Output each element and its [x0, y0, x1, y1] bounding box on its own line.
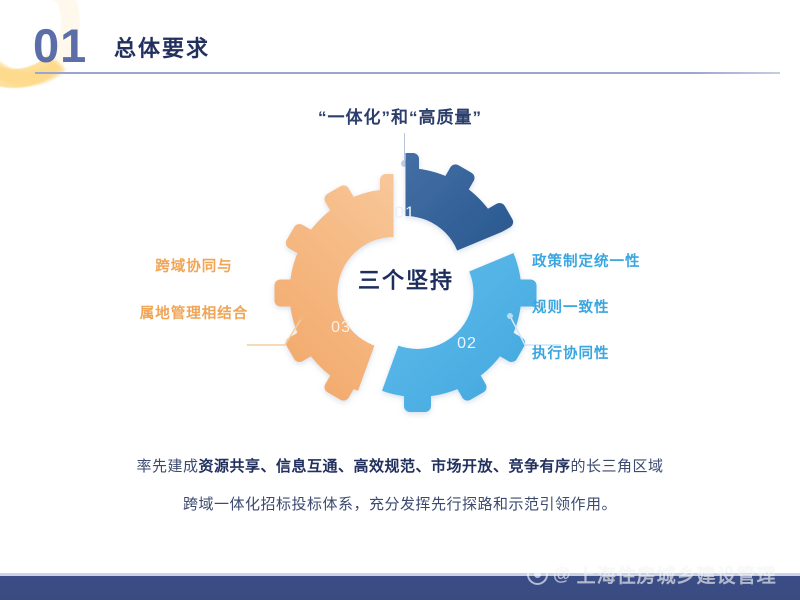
section-number: 01: [33, 22, 87, 69]
page-title: 总体要求: [114, 38, 210, 60]
slide-header: 01 总体要求: [0, 0, 800, 92]
bottom-line1-emphasis: 资源共享、信息互通、高效规范、市场开放、竞争有序: [198, 458, 570, 475]
left-label-2: 属地管理相结合: [104, 302, 284, 323]
top-caption: “一体化”和“高质量”: [0, 103, 800, 128]
gear-segment-01-number: 01: [395, 203, 416, 222]
right-label-1: 政策制定统一性: [532, 250, 712, 271]
left-label-group: 跨域协同与 属地管理相结合: [104, 255, 284, 349]
gear-segment-03-number: 03: [331, 319, 351, 336]
header-divider: [35, 72, 780, 74]
bottom-line1-prefix: 率先建成: [136, 458, 198, 475]
slide-canvas: 01 总体要求 “一体化”和“高质量”: [0, 0, 800, 600]
gear-segment-02-number: 02: [457, 335, 477, 352]
left-label-1: 跨域协同与: [104, 255, 284, 276]
right-label-3: 执行协同性: [532, 342, 712, 363]
bottom-paragraph-line-2: 跨域一体化招标投标体系，充分发挥先行探路和示范引领作用。: [0, 486, 800, 524]
footer-bar: [0, 576, 800, 600]
bottom-paragraph-line-1: 率先建成资源共享、信息互通、高效规范、市场开放、竞争有序的长三角区域: [0, 448, 800, 486]
right-label-group: 政策制定统一性 规则一致性 执行协同性: [532, 250, 712, 388]
bottom-paragraph: 率先建成资源共享、信息互通、高效规范、市场开放、竞争有序的长三角区域 跨域一体化…: [0, 448, 800, 524]
bottom-line1-suffix: 的长三角区域: [571, 458, 664, 475]
gear-center-label: 三个坚持: [335, 270, 477, 292]
right-label-2: 规则一致性: [532, 296, 712, 317]
